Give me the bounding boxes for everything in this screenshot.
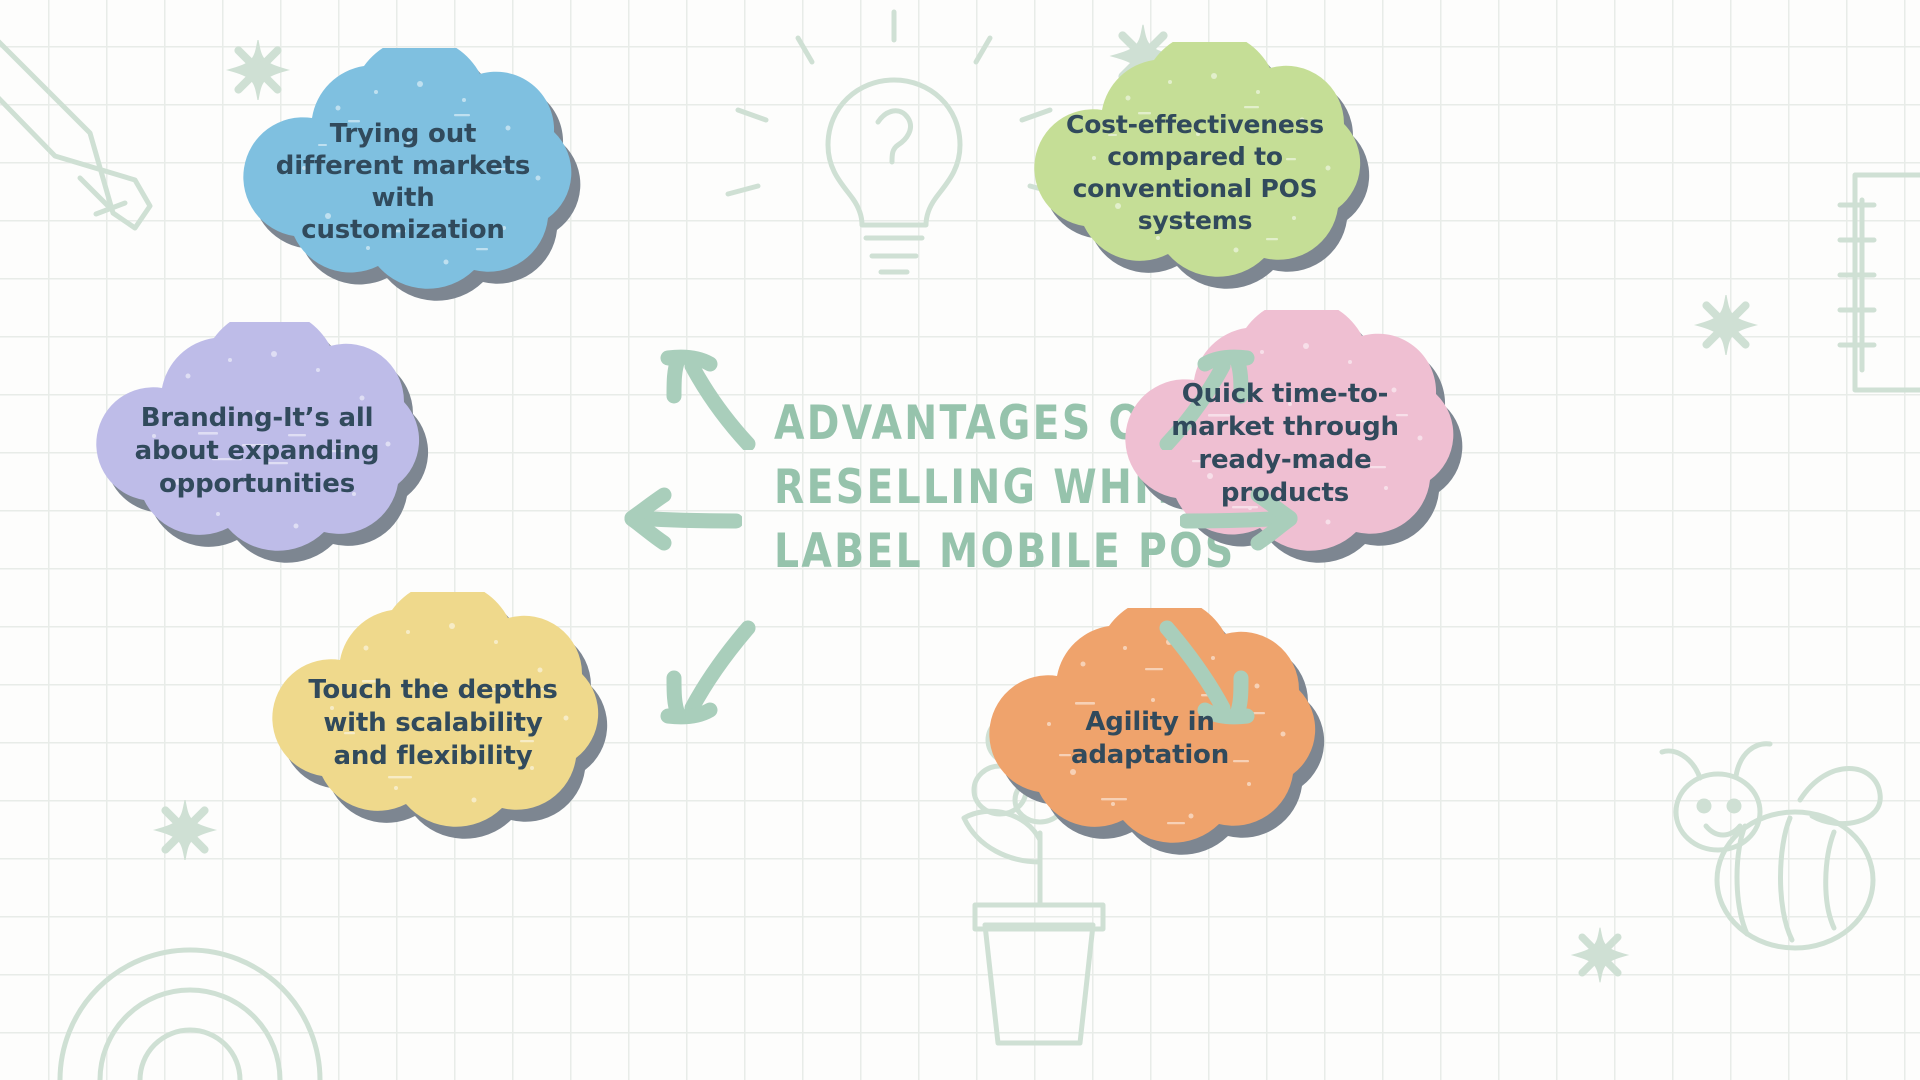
arrow-down-left [640,618,760,733]
cloud-label: Branding-It’s all about expanding opport… [107,402,407,501]
cloud-label-line: market through [1140,411,1430,444]
cloud-label-line: conventional POS [1045,173,1345,205]
cloud-touch-the-depths-scalability[interactable]: Touch the depths with scalability and fl… [238,592,628,854]
cloud-label-line: compared to [1045,141,1345,173]
cloud-label: Cost-effectiveness compared to conventio… [1045,109,1345,237]
cloud-label: Trying out different markets with custom… [268,118,538,246]
cloud-label-line: Cost-effectiveness [1045,109,1345,141]
cloud-agility-in-adaptation[interactable]: Agility in adaptation [955,608,1345,870]
cloud-label-line: with scalability [288,707,578,740]
cloud-label: Agility in adaptation [1020,706,1280,772]
cloud-label-line: products [1140,477,1430,510]
arrow-up-left [640,340,760,450]
cloud-label-line: about expanding [107,435,407,468]
cloud-label-line: different markets [268,150,538,182]
cloud-label-line: adaptation [1020,739,1280,772]
cloud-label-line: Quick time-to- [1140,378,1430,411]
cloud-label-line: systems [1045,205,1345,237]
cloud-branding-expanding-opportunities[interactable]: Branding-It’s all about expanding opport… [62,322,452,580]
cloud-label-line: Branding-It’s all [107,402,407,435]
cloud-label-line: Trying out [268,118,538,150]
cloud-label: Touch the depths with scalability and fl… [288,674,578,773]
cloud-label: Quick time-to- market through ready-made… [1140,378,1430,510]
cloud-label-line: Touch the depths [288,674,578,707]
cloud-label-line: with [268,182,538,214]
cloud-trying-out-different-markets[interactable]: Trying out different markets with custom… [208,48,598,316]
cloud-label-line: ready-made [1140,444,1430,477]
cloud-label-line: and flexibility [288,740,578,773]
cloud-label-line: customization [268,214,538,246]
arrow-left [612,485,742,555]
cloud-label-line: opportunities [107,468,407,501]
cloud-label-line: Agility in [1020,706,1280,739]
cloud-cost-effectiveness[interactable]: Cost-effectiveness compared to conventio… [1000,42,1390,304]
